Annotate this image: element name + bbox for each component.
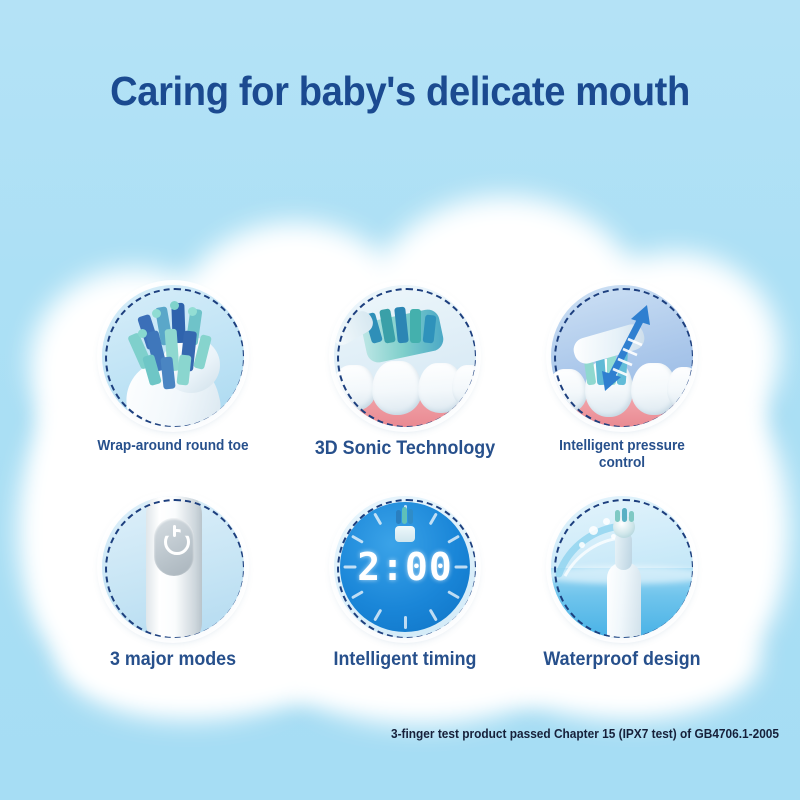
footnote-compliance-text: 3-finger test product passed Chapter 15 … (386, 727, 785, 741)
round-brush-head-icon (102, 285, 244, 427)
feature-image-pressure-arrow (551, 285, 693, 427)
feature-3-major-modes[interactable]: 3 major modes (73, 496, 273, 671)
feature-intelligent-pressure-control[interactable]: Intelligent pressure control (522, 285, 722, 472)
feature-caption: Waterproof design (528, 649, 716, 671)
feature-caption: Wrap-around round toe (79, 438, 267, 455)
pressure-arrow-icon (551, 285, 693, 427)
feature-grid: Wrap-around round toe (0, 0, 800, 800)
brush-in-water-icon (551, 496, 693, 638)
feature-image-brush-in-water (551, 496, 693, 638)
feature-image-power-button-handle (102, 496, 244, 638)
feature-image-brush-on-teeth (334, 285, 476, 427)
feature-caption: 3D Sonic Technology (311, 438, 499, 460)
timer-icon: 2:00 (334, 496, 476, 638)
feature-caption-line-1: Intelligent pressure (528, 438, 716, 455)
feature-image-timer: 2:00 (334, 496, 476, 638)
feature-waterproof-design[interactable]: Waterproof design (522, 496, 722, 671)
brush-on-teeth-icon (334, 285, 476, 427)
feature-wrap-around-round-toe[interactable]: Wrap-around round toe (73, 285, 273, 455)
infographic-poster: Caring for baby's delicate mouth (0, 0, 800, 800)
feature-3d-sonic-technology[interactable]: 3D Sonic Technology (305, 285, 505, 460)
feature-image-round-brush-head (102, 285, 244, 427)
feature-intelligent-timing[interactable]: 2:00 Intelligent timing (305, 496, 505, 671)
feature-caption: Intelligent pressure control (528, 438, 716, 472)
feature-caption-line-2: control (528, 455, 716, 472)
feature-caption: 3 major modes (79, 649, 267, 671)
feature-caption: Intelligent timing (311, 649, 499, 671)
timer-value: 2:00 (334, 545, 476, 589)
power-button-handle-icon (102, 496, 244, 638)
